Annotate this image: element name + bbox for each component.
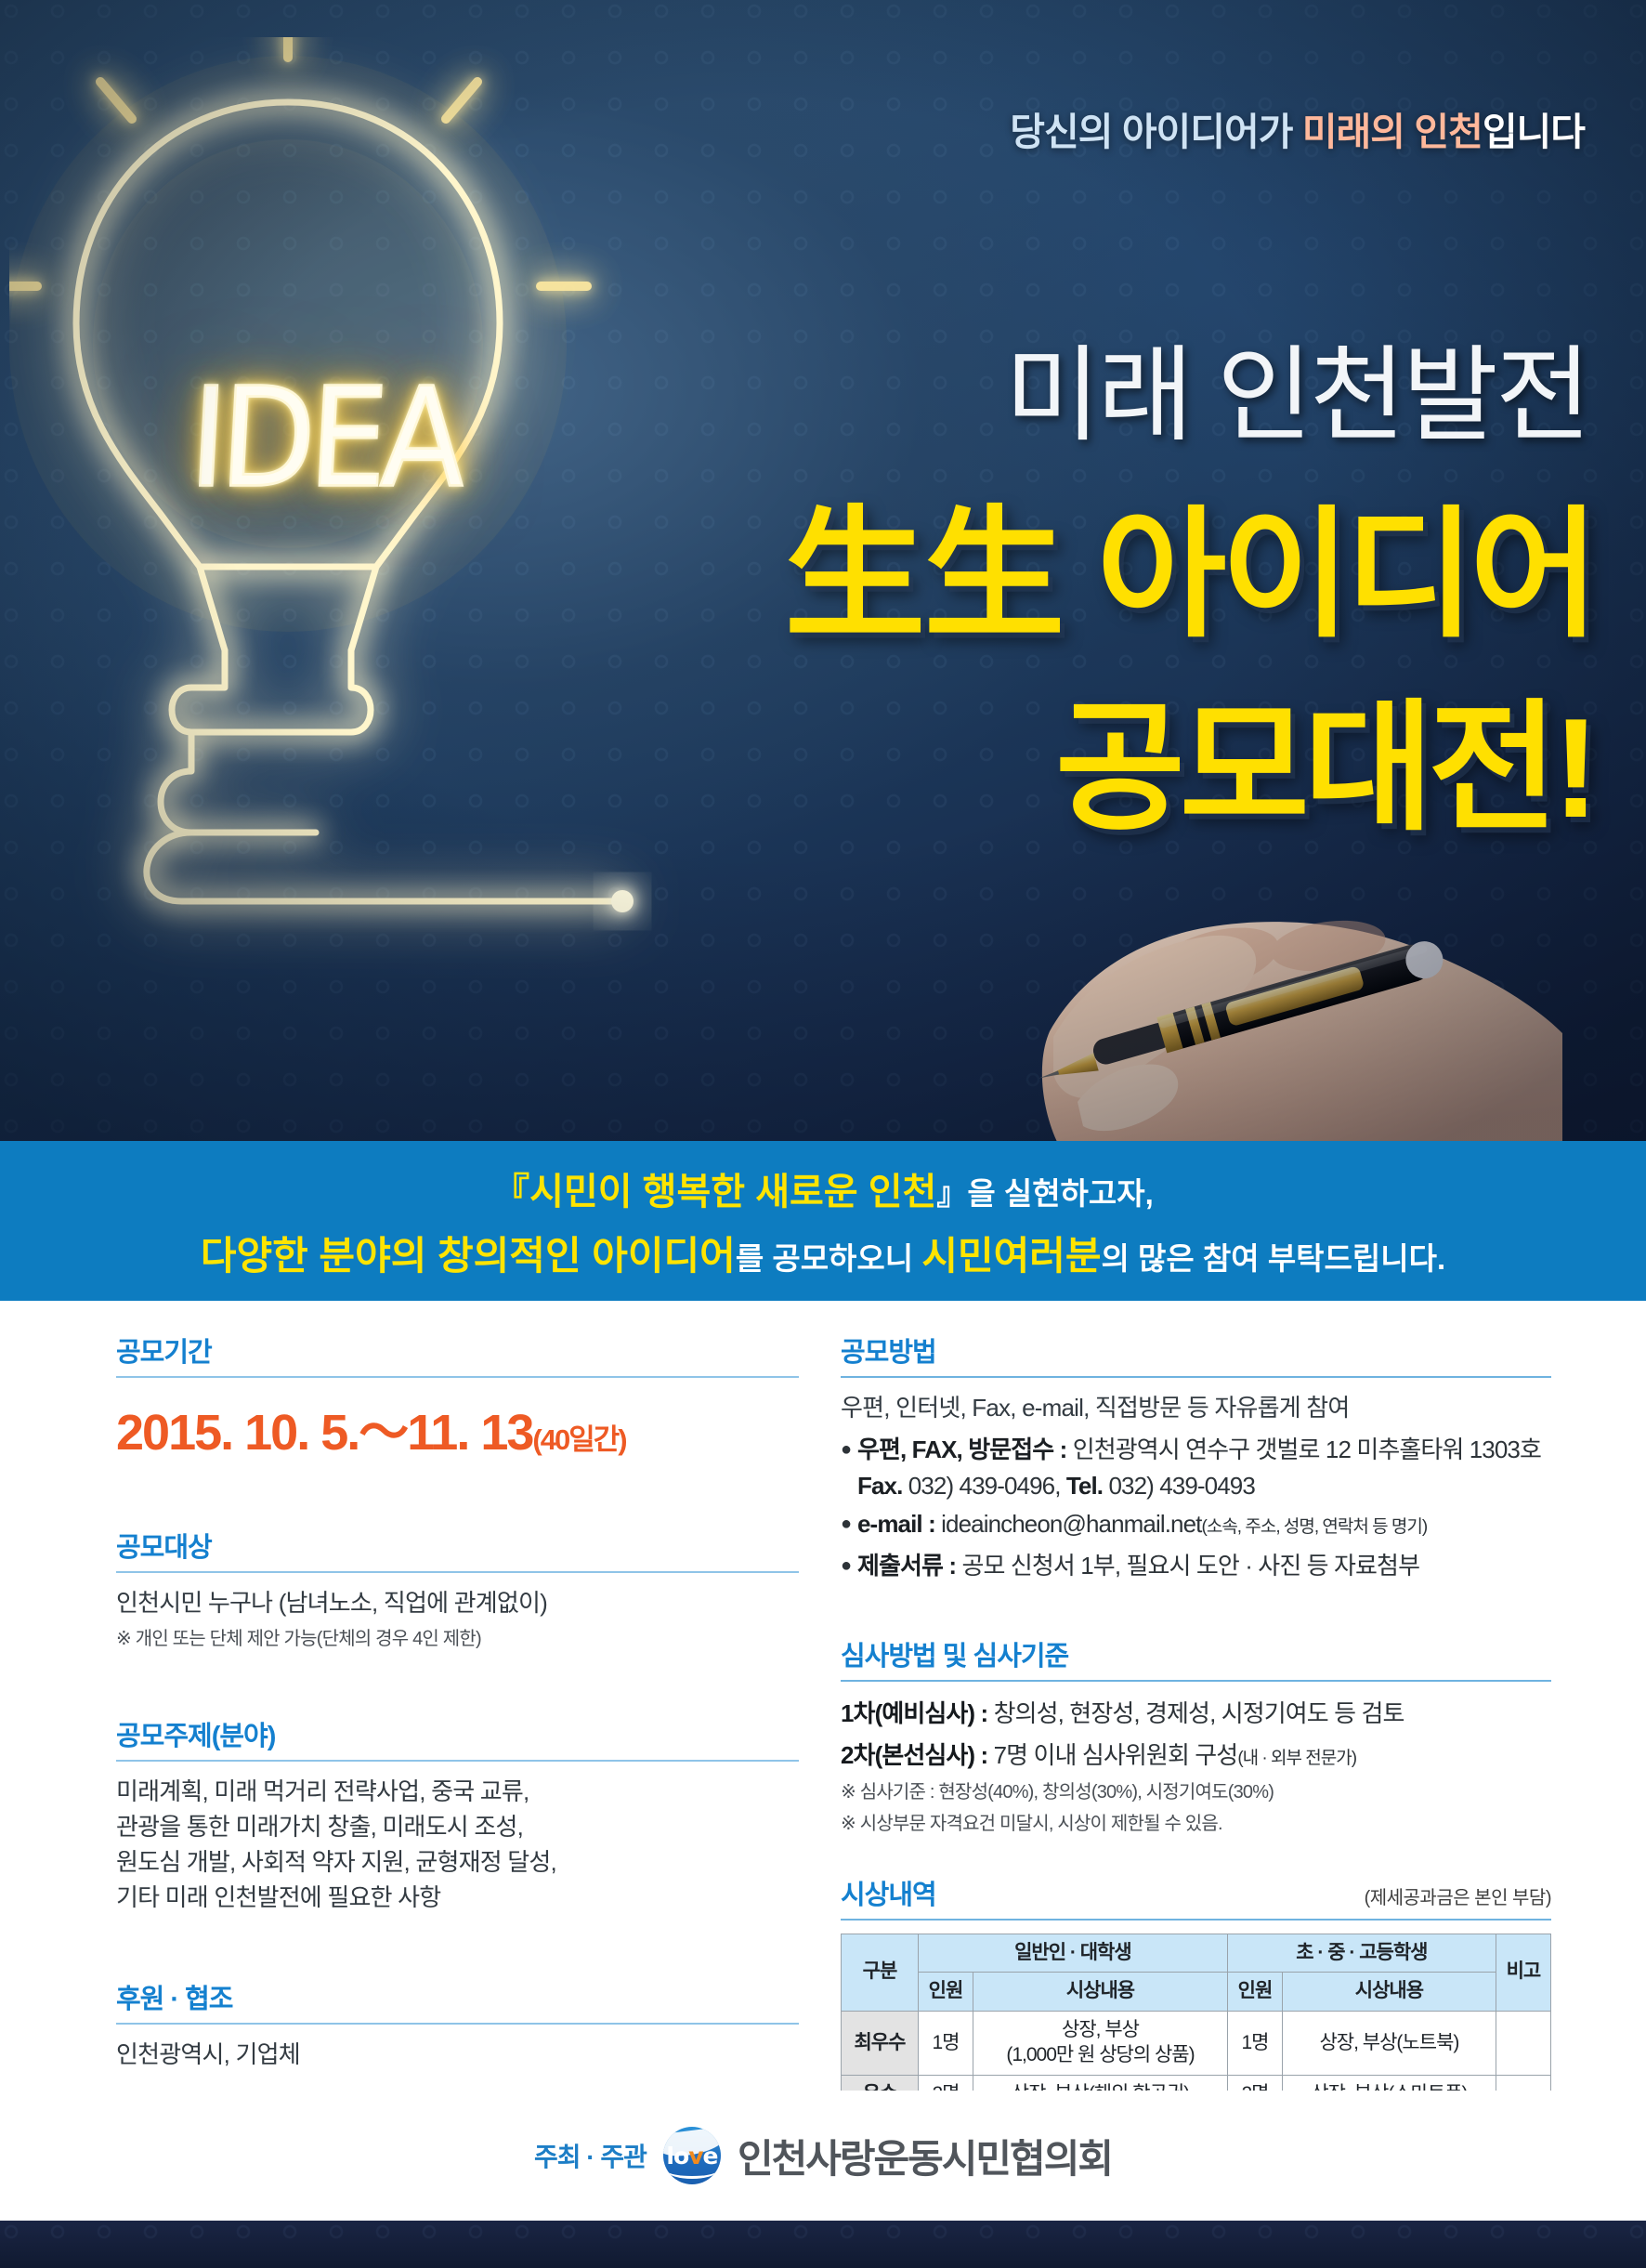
right-column: 공모방법 우편, 인터넷, Fax, e-mail, 직접방문 등 자유롭게 참… bbox=[841, 1331, 1551, 2197]
bottom-dark-bar bbox=[0, 2221, 1646, 2268]
host-label: 주최 · 주관 bbox=[534, 2137, 647, 2174]
logo-letter-o: o bbox=[673, 2143, 688, 2170]
divider bbox=[116, 2023, 799, 2025]
hero-title-hanja: 生生 bbox=[784, 492, 1063, 657]
theme-line-4: 기타 미래 인천발전에 필요한 사항 bbox=[116, 1881, 799, 1916]
section-period: 공모기간 2015. 10. 5.～11. 13(40일간) bbox=[116, 1331, 799, 1464]
banner-line2-mid: 를 공모하오니 bbox=[736, 1241, 922, 1276]
love-logo-icon: love bbox=[663, 2127, 721, 2184]
row-student-count: 1명 bbox=[1227, 2012, 1282, 2076]
hand-pen-svg bbox=[938, 892, 1588, 1141]
judging-note-1: ※ 심사기준 : 현장성(40%), 창의성(30%), 시정기여도(30%) bbox=[841, 1778, 1551, 1806]
banner-line-2: 다양한 분야의 창의적인 아이디어를 공모하오니 시민여러분의 많은 참여 부탁… bbox=[201, 1225, 1445, 1281]
section-target-heading: 공모대상 bbox=[116, 1526, 799, 1571]
method-fax-tel-line: Fax. 032) 439-0496, Tel. 032) 439-0493 bbox=[841, 1472, 1551, 1501]
bullet-dot-icon: ● bbox=[841, 1432, 857, 1468]
tel-label: Tel. bbox=[1066, 1472, 1103, 1500]
period-value: 2015. 10. 5.～11. 13(40일간) bbox=[116, 1391, 799, 1464]
spacer bbox=[116, 1660, 799, 1714]
divider bbox=[841, 1680, 1551, 1682]
logo-letter-v: v bbox=[688, 2143, 702, 2170]
section-theme-heading: 공모주제(분야) bbox=[116, 1714, 799, 1760]
documents-label: 제출서류 : bbox=[857, 1552, 962, 1580]
method-bullet-post: ● 우편, FAX, 방문접수 : 인천광역시 연수구 갯벌로 12 미추홀타워… bbox=[841, 1432, 1551, 1468]
section-judging: 심사방법 및 심사기준 1차(예비심사) : 창의성, 현장성, 경제성, 시정… bbox=[841, 1634, 1551, 1838]
row-grade: 최우수 bbox=[842, 2012, 919, 2076]
hero-tagline: 당신의 아이디어가 미래의 인천입니다 bbox=[1010, 100, 1585, 156]
section-prizes-heading-row: 시상내역 (제세공과금은 본인 부담) bbox=[841, 1873, 1551, 1919]
judging-round-2: 2차(본선심사) : 7명 이내 심사위원회 구성(내 · 외부 전문가) bbox=[841, 1737, 1551, 1774]
divider bbox=[116, 1376, 799, 1378]
header-remarks: 비고 bbox=[1496, 1934, 1550, 2012]
section-prizes-tax-note: (제세공과금은 본인 부담) bbox=[1365, 1882, 1551, 1909]
content-section: 공모기간 2015. 10. 5.～11. 13(40일간) 공모대상 인천시민… bbox=[0, 1301, 1646, 2183]
banner-line2-highlight-a: 다양한 분야의 창의적인 아이디어 bbox=[201, 1234, 736, 1278]
target-note: ※ 개인 또는 단체 제안 가능(단체의 경우 4인 제한) bbox=[116, 1625, 799, 1653]
sponsor-line: 인천광역시, 기업체 bbox=[116, 2038, 799, 2073]
theme-line-3: 원도심 개발, 사회적 약자 지원, 균형재정 달성, bbox=[116, 1845, 799, 1881]
method-post-label: 우편, FAX, 방문접수 : bbox=[857, 1436, 1073, 1463]
logo-letter-l: l bbox=[666, 2143, 673, 2170]
bullet-dot-icon: ● bbox=[841, 1506, 857, 1542]
banner-line-1: 『시민이 행복한 새로운 인천』을 실현하고자, bbox=[492, 1161, 1154, 1215]
tagline-part2: 미래의 인천 bbox=[1302, 111, 1483, 153]
header-group-students: 초 · 중 · 고등학생 bbox=[1227, 1934, 1496, 1973]
section-method-heading: 공모방법 bbox=[841, 1331, 1551, 1376]
spacer bbox=[841, 1845, 1551, 1873]
organizer-name: 인천사랑운동시민협의회 bbox=[738, 2128, 1112, 2184]
judging-round-1: 1차(예비심사) : 창의성, 현장성, 경제성, 시정기여도 등 검토 bbox=[841, 1695, 1551, 1732]
spacer bbox=[116, 1923, 799, 1977]
fax-label: Fax. bbox=[857, 1472, 902, 1500]
hero-title-line1: 生生 아이디어 bbox=[784, 460, 1594, 664]
header-general-prize: 시상내용 bbox=[973, 1973, 1228, 2012]
round2-value: 7명 이내 심사위원회 구성 bbox=[994, 1741, 1238, 1769]
tagline-part1: 당신의 아이디어가 bbox=[1010, 111, 1302, 153]
left-column: 공모기간 2015. 10. 5.～11. 13(40일간) 공모대상 인천시민… bbox=[116, 1331, 799, 2080]
round1-value: 창의성, 현장성, 경제성, 시정기여도 등 검토 bbox=[994, 1699, 1404, 1727]
round1-label: 1차(예비심사) : bbox=[841, 1699, 994, 1727]
header-student-count: 인원 bbox=[1227, 1973, 1282, 2012]
lightbulb-svg bbox=[9, 37, 715, 1106]
round2-note: (내 · 외부 전문가) bbox=[1237, 1749, 1356, 1768]
divider bbox=[116, 1760, 799, 1762]
banner-line1-highlight: 『시민이 행복한 새로운 인천 bbox=[492, 1172, 936, 1213]
row-student-prize: 상장, 부상(노트북) bbox=[1283, 2012, 1496, 2076]
target-line: 인천시민 누구나 (남녀노소, 직업에 관계없이) bbox=[116, 1586, 799, 1621]
judging-note-2: ※ 시상부문 자격요건 미달시, 시상이 제한될 수 있음. bbox=[841, 1810, 1551, 1838]
table-row: 최우수 1명 상장, 부상 (1,000만 원 상당의 상품) 1명 상장, 부… bbox=[842, 2012, 1551, 2076]
banner-line2-highlight-b: 시민여러분 bbox=[921, 1234, 1101, 1278]
theme-line-2: 관광을 통한 미래가치 창출, 미래도시 조성, bbox=[116, 1810, 799, 1845]
divider bbox=[841, 1376, 1551, 1378]
method-intro: 우편, 인터넷, Fax, e-mail, 직접방문 등 자유롭게 참여 bbox=[841, 1391, 1551, 1426]
section-target: 공모대상 인천시민 누구나 (남녀노소, 직업에 관계없이) ※ 개인 또는 단… bbox=[116, 1526, 799, 1653]
tagline-part3: 입니다 bbox=[1483, 111, 1585, 153]
method-bullet-documents-text: 제출서류 : 공모 신청서 1부, 필요시 도안 · 사진 등 자료첨부 bbox=[857, 1548, 1419, 1584]
method-post-value: 인천광역시 연수구 갯벌로 12 미추홀타워 1303호 bbox=[1073, 1436, 1541, 1463]
divider bbox=[116, 1571, 799, 1573]
prize-table-group-header-row: 구분 일반인 · 대학생 초 · 중 · 고등학생 비고 bbox=[842, 1934, 1551, 1973]
section-period-heading: 공모기간 bbox=[116, 1331, 799, 1376]
header-group-general: 일반인 · 대학생 bbox=[918, 1934, 1227, 1973]
header-general-count: 인원 bbox=[918, 1973, 973, 2012]
section-prizes-heading: 시상내역 bbox=[841, 1873, 936, 1912]
period-date: 2015. 10. 5.～11. 13 bbox=[116, 1405, 532, 1461]
divider bbox=[841, 1919, 1551, 1921]
header-category: 구분 bbox=[842, 1934, 919, 2012]
hand-with-pen-graphic bbox=[938, 892, 1588, 1141]
email-address[interactable]: ideaincheon@hanmail.net bbox=[941, 1510, 1201, 1538]
tel-number: 032) 439-0493 bbox=[1103, 1472, 1255, 1500]
neon-lightbulb-graphic: IDEA bbox=[9, 37, 715, 1106]
documents-value: 공모 신청서 1부, 필요시 도안 · 사진 등 자료첨부 bbox=[962, 1552, 1420, 1580]
blue-message-banner: 『시민이 행복한 새로운 인천』을 실현하고자, 다양한 분야의 창의적인 아이… bbox=[0, 1141, 1646, 1301]
banner-line1-rest: 』을 실현하고자, bbox=[936, 1176, 1154, 1211]
logo-love-text: love bbox=[663, 2127, 721, 2184]
prize-table-sub-header-row: 인원 시상내용 인원 시상내용 bbox=[842, 1973, 1551, 2012]
method-bullet-documents: ● 제출서류 : 공모 신청서 1부, 필요시 도안 · 사진 등 자료첨부 bbox=[841, 1548, 1551, 1584]
logo-letter-e: e bbox=[702, 2143, 717, 2170]
hero-title-subline: 미래 인천발전 bbox=[1005, 311, 1588, 462]
period-duration: (40일간) bbox=[532, 1423, 625, 1456]
section-judging-heading: 심사방법 및 심사기준 bbox=[841, 1634, 1551, 1680]
hero-title-line2: 공모대전! bbox=[1055, 653, 1594, 858]
section-method: 공모방법 우편, 인터넷, Fax, e-mail, 직접방문 등 자유롭게 참… bbox=[841, 1331, 1551, 1584]
method-bullet-email: ● e-mail : ideaincheon@hanmail.net(소속, 주… bbox=[841, 1506, 1551, 1542]
email-label: e-mail : bbox=[857, 1510, 941, 1538]
section-sponsor: 후원 · 협조 인천광역시, 기업체 bbox=[116, 1977, 799, 2073]
spacer bbox=[841, 1592, 1551, 1634]
email-note: (소속, 주소, 성명, 연락처 등 명기) bbox=[1202, 1517, 1428, 1537]
spacer bbox=[116, 1472, 799, 1526]
round2-label: 2차(본선심사) : bbox=[841, 1741, 994, 1769]
bullet-dot-icon: ● bbox=[841, 1548, 857, 1584]
bottom-bar-pattern bbox=[0, 2221, 1646, 2268]
row-general-count: 1명 bbox=[918, 2012, 973, 2076]
banner-line2-end: 의 많은 참여 부탁드립니다. bbox=[1102, 1241, 1446, 1276]
row-general-prize: 상장, 부상 (1,000만 원 상당의 상품) bbox=[973, 2012, 1228, 2076]
hero-section: IDEA bbox=[0, 0, 1646, 1141]
footer-organizer: 주최 · 주관 love 인천사랑운동시민협의회 bbox=[0, 2091, 1646, 2221]
row-remark bbox=[1496, 2012, 1550, 2076]
theme-line-1: 미래계획, 미래 먹거리 전략사업, 중국 교류, bbox=[116, 1775, 799, 1810]
header-student-prize: 시상내용 bbox=[1283, 1973, 1496, 2012]
prize-table-head: 구분 일반인 · 대학생 초 · 중 · 고등학생 비고 인원 시상내용 인원 … bbox=[842, 1934, 1551, 2012]
hero-title-idea: 아이디어 bbox=[1063, 496, 1594, 654]
method-bullet-email-text: e-mail : ideaincheon@hanmail.net(소속, 주소,… bbox=[857, 1506, 1427, 1542]
method-bullet-post-text: 우편, FAX, 방문접수 : 인천광역시 연수구 갯벌로 12 미추홀타워 1… bbox=[857, 1432, 1541, 1468]
section-theme: 공모주제(분야) 미래계획, 미래 먹거리 전략사업, 중국 교류, 관광을 통… bbox=[116, 1714, 799, 1916]
fax-number: 032) 439-0496, bbox=[902, 1472, 1065, 1500]
section-sponsor-heading: 후원 · 협조 bbox=[116, 1977, 799, 2023]
